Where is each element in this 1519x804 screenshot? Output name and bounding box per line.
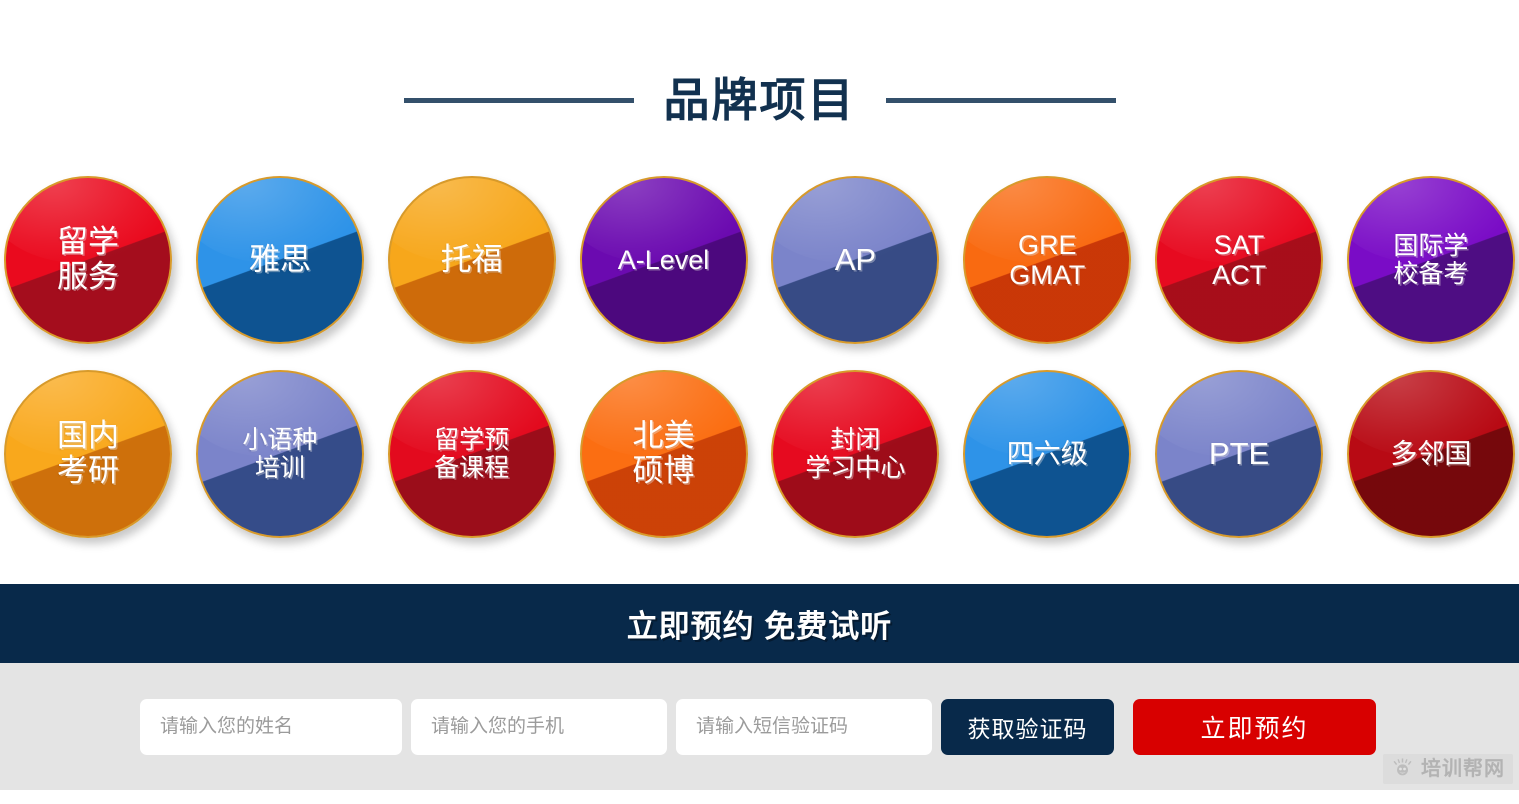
- program-row-2: 国内 考研小语种 培训留学预 备课程北美 硕博封闭 学习中心四六级PTE多邻国: [0, 370, 1519, 538]
- program-circle-label: AP: [829, 243, 882, 278]
- program-circle-label: 北美 硕博: [627, 419, 701, 488]
- sms-code-input[interactable]: [676, 699, 932, 755]
- program-circle-label: 国际学 校备考: [1387, 232, 1474, 288]
- heading-rule-left: [404, 98, 634, 103]
- brand-programs-page: 品牌项目 留学 服务雅思托福A-LevelAPGRE GMATSAT ACT国际…: [0, 0, 1519, 804]
- booking-banner: 立即预约 免费试听: [0, 584, 1519, 663]
- section-heading: 品牌项目: [0, 60, 1519, 140]
- program-circle[interactable]: 留学 服务: [4, 176, 172, 344]
- program-circle[interactable]: A-Level: [580, 176, 748, 344]
- program-circle-label: 国内 考研: [51, 419, 125, 488]
- page-title: 品牌项目: [664, 77, 856, 123]
- site-watermark: 培训帮网: [1383, 754, 1513, 784]
- program-circle-label: 封闭 学习中心: [799, 426, 911, 482]
- program-circle[interactable]: 雅思: [196, 176, 364, 344]
- book-now-button[interactable]: 立即预约: [1133, 699, 1376, 755]
- sun-face-icon: [1391, 758, 1414, 780]
- name-input[interactable]: [140, 699, 402, 755]
- program-circle[interactable]: 封闭 学习中心: [771, 370, 939, 538]
- program-circle[interactable]: 托福: [388, 176, 556, 344]
- program-circle-label: 小语种 培训: [236, 426, 323, 482]
- program-circle-label: PTE: [1203, 437, 1275, 472]
- booking-banner-text: 立即预约 免费试听: [627, 601, 893, 646]
- program-circle[interactable]: AP: [771, 176, 939, 344]
- program-circle[interactable]: GRE GMAT: [963, 176, 1131, 344]
- program-circle[interactable]: 留学预 备课程: [388, 370, 556, 538]
- booking-form-strip: 获取验证码 立即预约 培训帮网: [0, 663, 1519, 790]
- program-circle[interactable]: 小语种 培训: [196, 370, 364, 538]
- phone-input[interactable]: [411, 699, 667, 755]
- program-circle[interactable]: SAT ACT: [1155, 176, 1323, 344]
- program-row-1: 留学 服务雅思托福A-LevelAPGRE GMATSAT ACT国际学 校备考: [0, 176, 1519, 344]
- program-circle[interactable]: 国际学 校备考: [1347, 176, 1515, 344]
- program-circle-label: 留学 服务: [51, 225, 125, 294]
- program-circle-label: 四六级: [1001, 439, 1094, 469]
- program-circle-label: 雅思: [243, 243, 317, 278]
- program-circle[interactable]: 多邻国: [1347, 370, 1515, 538]
- booking-form: 获取验证码 立即预约: [140, 699, 1376, 755]
- program-circle-label: SAT ACT: [1206, 230, 1272, 290]
- program-circle[interactable]: 国内 考研: [4, 370, 172, 538]
- program-circle-label: 留学预 备课程: [428, 426, 515, 482]
- program-circle[interactable]: 四六级: [963, 370, 1131, 538]
- program-circle-label: GRE GMAT: [1003, 230, 1091, 290]
- program-circle[interactable]: PTE: [1155, 370, 1323, 538]
- program-circle-label: 多邻国: [1384, 439, 1477, 469]
- get-verification-code-button[interactable]: 获取验证码: [941, 699, 1114, 755]
- program-circle-label: 托福: [435, 243, 509, 278]
- program-circle[interactable]: 北美 硕博: [580, 370, 748, 538]
- watermark-label: 培训帮网: [1421, 759, 1505, 779]
- program-circle-grid: 留学 服务雅思托福A-LevelAPGRE GMATSAT ACT国际学 校备考…: [0, 176, 1519, 564]
- program-circle-label: A-Level: [612, 245, 716, 275]
- heading-rule-right: [886, 98, 1116, 103]
